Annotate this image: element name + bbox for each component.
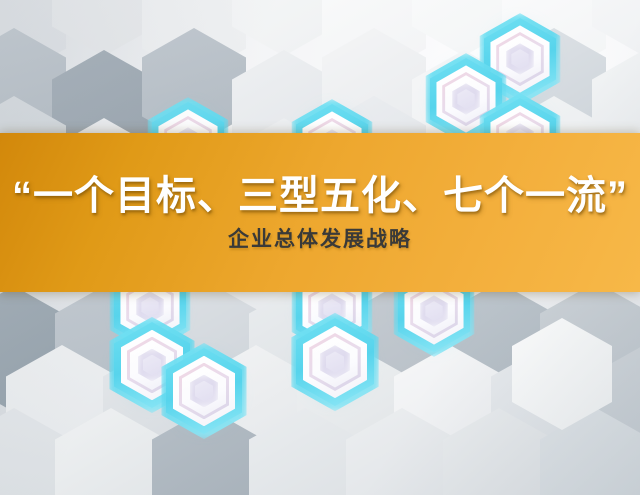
title-banner: “一个目标、三型五化、七个一流” 企业总体发展战略	[0, 133, 640, 292]
page-title: “一个目标、三型五化、七个一流”	[12, 174, 628, 219]
title-banner-content: “一个目标、三型五化、七个一流” 企业总体发展战略	[0, 133, 640, 292]
page-subtitle: 企业总体发展战略	[228, 228, 412, 251]
presentation-slide: “一个目标、三型五化、七个一流” 企业总体发展战略	[0, 0, 640, 495]
